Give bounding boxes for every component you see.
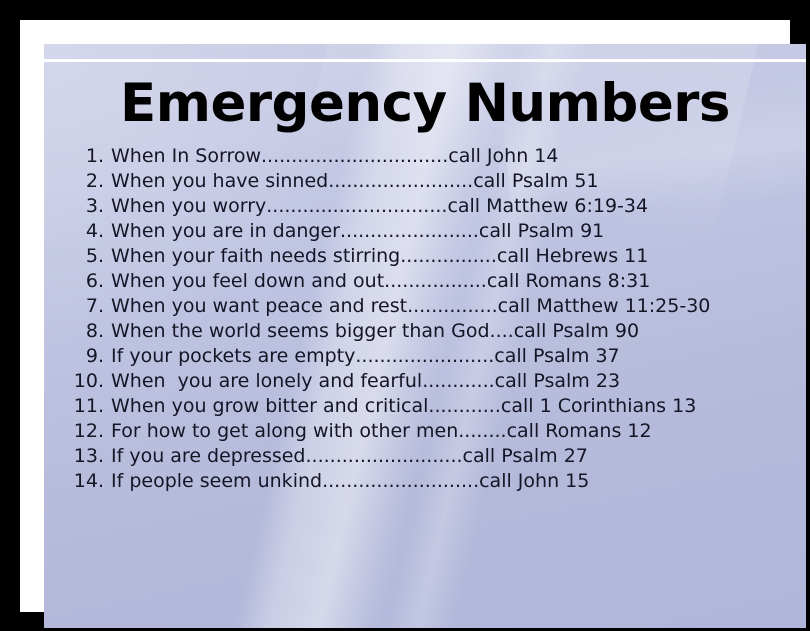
list-item-dot-leader: ........ — [458, 419, 506, 444]
list-item-dot-leader: ....................... — [355, 344, 494, 369]
list-item-dot-leader: ................ — [400, 244, 497, 269]
list-item-dot-leader: ................. — [384, 269, 487, 294]
list-item: 6.When you feel down and out............… — [70, 269, 790, 294]
list-item-reference: call Matthew 6:19-34 — [447, 194, 648, 219]
page-title: Emergency Numbers — [44, 74, 806, 134]
list-item-number: 11. — [70, 394, 104, 419]
list-item-reference: call Romans 8:31 — [487, 269, 650, 294]
list-item-number: 1. — [70, 144, 104, 169]
list-item-dot-leader: .............................. — [266, 194, 447, 219]
slide-white-border: Emergency Numbers 1.When In Sorrow......… — [20, 20, 790, 612]
list-item-dot-leader: ........................ — [328, 169, 473, 194]
list-item-reference: call 1 Corinthians 13 — [501, 394, 696, 419]
list-item: 1.When In Sorrow........................… — [70, 144, 790, 169]
list-item-reference: call John 14 — [448, 144, 558, 169]
list-item-dot-leader: ............ — [428, 394, 500, 419]
list-item-dot-leader: ............................... — [261, 144, 448, 169]
list-item-reference: call Psalm 51 — [473, 169, 598, 194]
list-item-situation: When In Sorrow — [104, 144, 261, 169]
list-item: 10.When you are lonely and fearful......… — [70, 369, 790, 394]
list-item-situation: For how to get along with other men — [104, 419, 458, 444]
list-item-number: 5. — [70, 244, 104, 269]
list-item-reference: call Matthew 11:25-30 — [498, 294, 711, 319]
list-item: 11.When you grow bitter and critical....… — [70, 394, 790, 419]
list-item-reference: call Psalm 23 — [495, 369, 620, 394]
list-item-situation: When you are in danger — [104, 219, 340, 244]
list-item-situation: When you worry — [104, 194, 266, 219]
list-item: 13.If you are depressed.................… — [70, 444, 790, 469]
list-item-dot-leader: ............... — [407, 294, 498, 319]
list-item-reference: call Psalm 37 — [494, 344, 619, 369]
list-item-number: 6. — [70, 269, 104, 294]
slide-frame: Emergency Numbers 1.When In Sorrow......… — [0, 0, 810, 631]
list-item-reference: call Psalm 27 — [463, 444, 588, 469]
list-item-situation: When you grow bitter and critical — [104, 394, 428, 419]
list-item-number: 3. — [70, 194, 104, 219]
list-item-situation: When you are lonely and fearful — [104, 369, 422, 394]
list-item: 8.When the world seems bigger than God..… — [70, 319, 790, 344]
list-item-number: 4. — [70, 219, 104, 244]
list-item: 12.For how to get along with other men..… — [70, 419, 790, 444]
list-item-number: 8. — [70, 319, 104, 344]
list-item-reference: call Hebrews 11 — [497, 244, 648, 269]
list-item: 9.If your pockets are empty.............… — [70, 344, 790, 369]
list-item-reference: call John 15 — [479, 469, 589, 494]
list-item: 14.If people seem unkind................… — [70, 469, 790, 494]
emergency-numbers-list: 1.When In Sorrow........................… — [70, 144, 790, 494]
list-item-situation: If people seem unkind — [104, 469, 322, 494]
list-item: 7.When you want peace and rest..........… — [70, 294, 790, 319]
list-item-number: 7. — [70, 294, 104, 319]
list-item-number: 13. — [70, 444, 104, 469]
list-item-number: 2. — [70, 169, 104, 194]
list-item-reference: call Romans 12 — [507, 419, 652, 444]
list-item: 2.When you have sinned..................… — [70, 169, 790, 194]
list-item-dot-leader: .......................... — [306, 444, 463, 469]
list-item-situation: When you have sinned — [104, 169, 328, 194]
header-divider — [44, 59, 806, 62]
list-item-situation: When you want peace and rest — [104, 294, 407, 319]
list-item-dot-leader: ............ — [422, 369, 494, 394]
list-item-number: 10. — [70, 369, 104, 394]
list-item: 5.When your faith needs stirring........… — [70, 244, 790, 269]
list-item-dot-leader: ....................... — [340, 219, 479, 244]
list-item-number: 9. — [70, 344, 104, 369]
list-item-situation: If you are depressed — [104, 444, 306, 469]
list-item-situation: When the world seems bigger than God — [104, 319, 490, 344]
list-item-reference: call Psalm 90 — [514, 319, 639, 344]
list-item-situation: If your pockets are empty — [104, 344, 355, 369]
list-item-number: 12. — [70, 419, 104, 444]
list-item-situation: When your faith needs stirring — [104, 244, 400, 269]
list-item-dot-leader: .......................... — [322, 469, 479, 494]
list-item-reference: call Psalm 91 — [479, 219, 604, 244]
list-item-situation: When you feel down and out — [104, 269, 384, 294]
list-item: 3.When you worry........................… — [70, 194, 790, 219]
list-item-number: 14. — [70, 469, 104, 494]
slide-canvas: Emergency Numbers 1.When In Sorrow......… — [44, 44, 806, 628]
list-item-dot-leader: .... — [490, 319, 514, 344]
list-item: 4.When you are in danger................… — [70, 219, 790, 244]
